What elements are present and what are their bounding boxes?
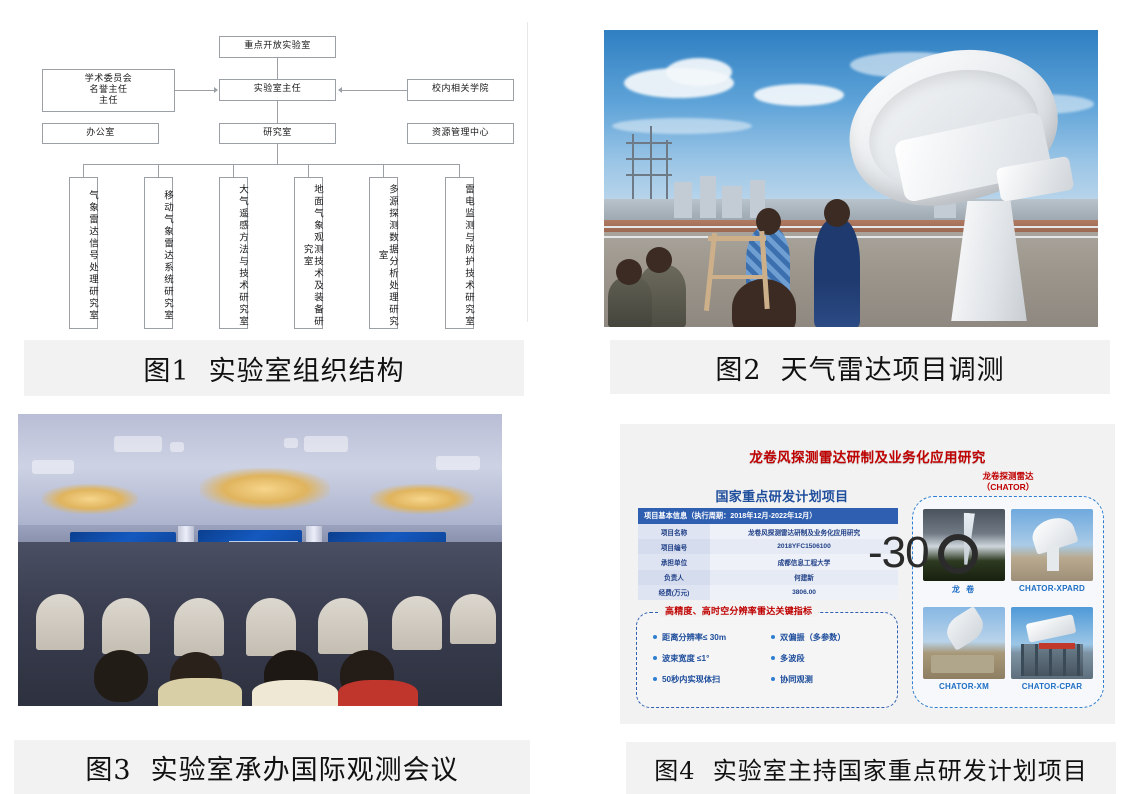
lab-drop-4: [308, 164, 309, 177]
bullet-dot-icon: [771, 677, 775, 681]
figure-3-photo: 2019 2019 2019: [18, 414, 502, 706]
org-box-resource-center: 资源管理中心: [407, 123, 514, 144]
antenna-crossbar: [626, 158, 672, 160]
watermark-ring: [938, 534, 978, 574]
radar-item-label: CHATOR-XPARD: [1019, 584, 1085, 593]
radar-item-label: CHATOR-CPAR: [1022, 682, 1082, 691]
antenna-mast: [650, 126, 652, 204]
ladder-rung: [708, 236, 766, 241]
city-building: [674, 182, 692, 218]
chair: [36, 594, 84, 650]
attendee-shoulder: [252, 680, 338, 706]
project-info-table: 项目基本信息（执行周期：2018年12月-2022年12月） 项目名称 龙卷风探…: [638, 508, 898, 600]
radar-tower-frame: [1021, 644, 1083, 676]
key-metrics-grid: 距离分辨率≤ 30m 双偏振（多参数） 波束宽度 ≤1° 多波段 50秒内实现体…: [653, 631, 889, 685]
connector-research-bus: [277, 144, 278, 164]
figure-1-caption: 图1 实验室组织结构: [24, 340, 524, 396]
cloud: [754, 84, 844, 106]
table-cell-label: 承担单位: [638, 554, 710, 569]
ladder-rung: [708, 275, 766, 279]
org-box-lab-4: 地面气象观测技术及装备研究室: [294, 177, 323, 329]
cloud: [666, 58, 732, 86]
org-box-lab-5: 多源探测数据分析处理研究室: [369, 177, 398, 329]
bullet-dot-icon: [653, 656, 657, 660]
metric-item: 多波段: [771, 652, 889, 664]
city-building: [722, 186, 742, 218]
metric-label: 多波段: [780, 652, 805, 664]
metric-item: 50秒内实现体扫: [653, 673, 771, 685]
metric-label: 距离分辨率≤ 30m: [662, 631, 726, 643]
antenna-mast: [666, 140, 668, 204]
ceiling-vent: [436, 456, 480, 470]
bullet-dot-icon: [653, 677, 657, 681]
connector-director-research: [277, 101, 278, 123]
ceiling-vent: [304, 436, 348, 452]
chair: [102, 598, 150, 654]
org-box-college: 校内相关学院: [407, 79, 514, 101]
table-row: 项目编号 2018YFC1506100: [638, 539, 898, 554]
radar-item-label: CHATOR-XM: [939, 682, 989, 691]
radar-panel-shape: [1026, 614, 1076, 642]
radar-title-en: （CHATOR）: [913, 482, 1103, 493]
city-building: [700, 176, 716, 218]
chandelier-right: [370, 484, 474, 514]
figure-4-slide: 龙卷风探测雷达研制及业务化应用研究 国家重点研发计划项目 项目基本信息（执行周期…: [620, 424, 1115, 724]
table-row: 经费(万元) 3806.00: [638, 585, 898, 600]
attendee-head: [94, 650, 148, 702]
org-box-office: 办公室: [42, 123, 159, 144]
table-row: 承担单位 成都信息工程大学: [638, 554, 898, 569]
figure-1-org-chart: 重点开放实验室 学术委员会 名誉主任 主任 实验室主任 校内相关学院 办公室 研…: [24, 22, 524, 332]
attendee-shoulder: [158, 678, 242, 706]
chandelier-center: [200, 468, 330, 510]
org-box-research-dept: 研究室: [219, 123, 336, 144]
chator-xm-photo: [923, 607, 1005, 679]
table-cell-label: 项目名称: [638, 524, 710, 539]
metric-item: 协同观测: [771, 673, 889, 685]
figure-sheet: 重点开放实验室 学术委员会 名誉主任 主任 实验室主任 校内相关学院 办公室 研…: [0, 0, 1122, 794]
person-engineer: [814, 219, 860, 327]
table-cell-value: 2018YFC1506100: [710, 539, 898, 554]
person-head: [824, 199, 850, 227]
metric-label: 波束宽度 ≤1°: [662, 652, 709, 664]
metric-item: 双偏振（多参数）: [771, 631, 889, 643]
chair: [318, 598, 368, 654]
table-cell-value: 成都信息工程大学: [710, 554, 898, 569]
chator-xpard-photo: [1011, 509, 1093, 581]
ceiling-vent: [114, 436, 162, 452]
chair: [174, 598, 224, 656]
chair: [450, 594, 496, 644]
arrow-left-icon: [338, 87, 342, 93]
metric-item: 波束宽度 ≤1°: [653, 652, 771, 664]
org-box-committee: 学术委员会 名誉主任 主任: [42, 69, 175, 112]
chandelier-left: [42, 484, 138, 514]
radar-gallery-title: 龙卷探测雷达 （CHATOR）: [913, 471, 1103, 494]
slide-title: 龙卷风探测雷达研制及业务化应用研究: [620, 446, 1115, 466]
table-header-row: 项目基本信息（执行周期：2018年12月-2022年12月）: [638, 508, 898, 524]
table-cell-value: 何建新: [710, 570, 898, 585]
radar-red-stripe: [1039, 643, 1075, 649]
radar-gallery-item: CHATOR-CPAR: [1011, 607, 1093, 699]
lab-drop-2: [158, 164, 159, 177]
key-metrics-title: 高精度、高时空分辨率雷达关键指标: [659, 604, 818, 617]
lab-drop-5: [383, 164, 384, 177]
org-box-lab-3: 大气遥感方法与技术研究室: [219, 177, 248, 329]
metric-item: 距离分辨率≤ 30m: [653, 631, 771, 643]
org-box-lab-1: 气象雷达信号处理研究室: [69, 177, 98, 329]
bullet-dot-icon: [653, 635, 657, 639]
table-cell-label: 项目编号: [638, 539, 710, 554]
attendee-shoulder-red: [338, 680, 418, 706]
metric-label: 双偏振（多参数）: [780, 631, 846, 643]
figure-2-caption: 图2 天气雷达项目调测: [610, 340, 1110, 394]
person-head: [646, 247, 672, 273]
figure-3-caption: 图3 实验室承办国际观测会议: [14, 740, 530, 794]
org-box-top: 重点开放实验室: [219, 36, 336, 58]
cloud: [612, 118, 752, 134]
slide-subtitle: 国家重点研发计划项目: [672, 486, 892, 505]
ceiling-vent: [170, 442, 184, 452]
table-cell-label: 负责人: [638, 570, 710, 585]
bullet-dot-icon: [771, 635, 775, 639]
radar-title-cn: 龙卷探测雷达: [913, 471, 1103, 482]
org-box-lab-2: 移动气象雷达系统研究室: [144, 177, 173, 329]
lab-bus-line: [83, 164, 459, 165]
radar-pedestal-shape: [1047, 546, 1058, 570]
chair: [392, 596, 442, 650]
radar-gallery-item: CHATOR-XM: [923, 607, 1005, 699]
ceiling-vent: [284, 438, 298, 448]
table-cell-value: 3806.00: [710, 585, 898, 600]
lab-drop-3: [233, 164, 234, 177]
radar-truck-shape: [931, 655, 993, 674]
bullet-dot-icon: [771, 656, 775, 660]
org-box-director: 实验室主任: [219, 79, 336, 101]
table-row: 负责人 何建新: [638, 570, 898, 585]
table-cell-value: 龙卷风探测雷达研制及业务化应用研究: [710, 524, 898, 539]
figure-2-photo: [604, 30, 1098, 327]
figure-4-caption: 图4 实验室主持国家重点研发计划项目: [626, 742, 1116, 794]
arrow-right-icon: [214, 87, 218, 93]
connector-committee-director: [175, 90, 215, 91]
chator-cpar-photo: [1011, 607, 1093, 679]
metric-label: 协同观测: [780, 673, 813, 685]
table-cell-label: 经费(万元): [638, 585, 710, 600]
radar-gallery-item: CHATOR-XPARD: [1011, 509, 1093, 601]
radar-gallery-box: 龙卷探测雷达 （CHATOR） 龙 卷 CHATOR-XPARD: [912, 496, 1104, 708]
table-header-cell: 项目基本信息（执行周期：2018年12月-2022年12月）: [638, 508, 898, 524]
antenna-crossbar: [626, 174, 672, 176]
metric-label: 50秒内实现体扫: [662, 673, 720, 685]
antenna-mast: [632, 134, 634, 204]
ceiling-vent: [32, 460, 74, 474]
chair: [246, 598, 296, 656]
table-row: 项目名称 龙卷风探测雷达研制及业务化应用研究: [638, 524, 898, 539]
radar-item-label: 龙 卷: [952, 584, 976, 595]
antenna-crossbar: [626, 142, 672, 144]
chart-right-rule: [527, 22, 528, 322]
org-box-lab-6: 雷电监测与防护技术研究室: [445, 177, 474, 329]
person-head: [616, 259, 642, 285]
key-metrics-box: 高精度、高时空分辨率雷达关键指标 距离分辨率≤ 30m 双偏振（多参数） 波束宽…: [636, 612, 898, 708]
radar-dish-shape: [941, 607, 988, 651]
lab-drop-1: [83, 164, 84, 177]
connector-college-director: [342, 90, 407, 91]
lab-drop-6: [459, 164, 460, 177]
